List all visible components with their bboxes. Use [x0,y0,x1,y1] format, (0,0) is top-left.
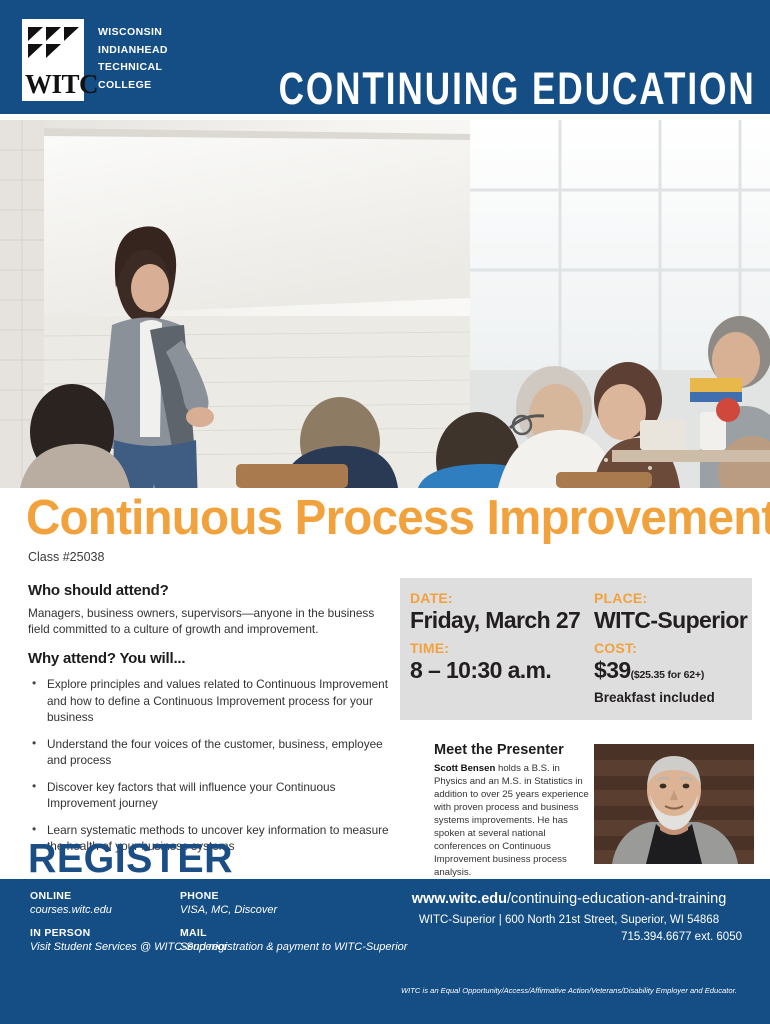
institution-line-4: COLLEGE [98,77,168,95]
campus-address: WITC-Superior | 600 North 21st Street, S… [384,912,754,928]
register-phone-block: PHONE VISA, MC, Discover [180,890,277,918]
institution-line-2: INDIANHEAD [98,42,168,60]
mail-label: MAIL [180,927,407,939]
institution-name: WISCONSIN INDIANHEAD TECHNICAL COLLEGE [98,19,168,94]
class-number: Class #25038 [28,550,104,564]
why-heading: Why attend? You will... [28,650,400,667]
website-domain: www.witc.edu [412,891,507,907]
banner-title: CONTINUING EDUCATION [279,66,756,111]
place-value: WITC-Superior [594,606,762,634]
witc-logo: WITC WISCONSIN INDIANHEAD TECHNICAL COLL… [22,19,168,101]
why-attend-section: Why attend? You will... Explore principl… [28,650,400,865]
presenter-portrait-illustration [594,744,754,864]
presenter-name: Scott Bensen [434,763,495,774]
list-item: Understand the four voices of the custom… [28,736,400,769]
flyer-page: WITC WISCONSIN INDIANHEAD TECHNICAL COLL… [0,0,770,1024]
date-label: DATE: [410,590,594,606]
cost-label: COST: [594,640,762,656]
contact-phone-number: 715.394.6677 ext. 6050 [384,931,742,943]
register-heading: REGISTER [28,838,233,879]
hero-photo [0,120,770,488]
hero-illustration [0,120,770,488]
website-path: /continuing-education-and-training [507,891,726,907]
place-cell: PLACE: WITC-Superior [594,586,762,634]
who-body: Managers, business owners, supervisors—a… [28,605,388,637]
triangle-icon [46,44,61,58]
phone-value: VISA, MC, Discover [180,903,277,918]
cost-cell: COST: $39($25.35 for 62+) Breakfast incl… [594,636,762,706]
cost-value-row: $39($25.35 for 62+) [594,656,762,689]
logo-triangles-bottom-row [28,44,61,58]
cost-extra: Breakfast included [594,689,762,706]
cost-value: $39 [594,657,631,683]
why-bullet-list: Explore principles and values related to… [28,676,400,855]
eeo-statement: WITC is an Equal Opportunity/Access/Affi… [384,985,754,996]
time-cell: TIME: 8 – 10:30 a.m. [410,636,594,706]
list-item: Explore principles and values related to… [28,676,400,726]
logo-mark: WITC [22,19,84,101]
who-should-attend-section: Who should attend? Managers, business ow… [28,582,388,637]
online-value[interactable]: courses.witc.edu [30,903,112,918]
register-mail-block: MAIL Send registration & payment to WITC… [180,927,407,955]
who-heading: Who should attend? [28,582,388,599]
institution-line-3: TECHNICAL [98,59,168,77]
page-footer: ONLINE courses.witc.edu IN PERSON Visit … [0,879,770,1024]
presenter-bio: Scott Bensen holds a B.S. in Physics and… [434,762,589,879]
triangle-icon [28,27,43,41]
presenter-bio-text: holds a B.S. in Physics and an M.S. in S… [434,763,589,878]
course-title: Continuous Process Improvement [26,494,770,543]
institution-line-1: WISCONSIN [98,24,168,42]
time-value: 8 – 10:30 a.m. [410,656,594,684]
website-url[interactable]: www.witc.edu/continuing-education-and-tr… [384,889,754,909]
cost-note: ($25.35 for 62+) [631,669,705,681]
triangle-icon [28,44,43,58]
triangle-icon [64,27,79,41]
presenter-section: Meet the Presenter Scott Bensen holds a … [434,742,754,872]
register-online-block: ONLINE courses.witc.edu [30,890,112,918]
logo-triangles-top-row [28,27,79,41]
header-divider [0,114,770,117]
online-label: ONLINE [30,890,112,902]
place-label: PLACE: [594,590,762,606]
course-details-grid: DATE: Friday, March 27 PLACE: WITC-Super… [410,586,752,706]
mail-value: Send registration & payment to WITC-Supe… [180,940,407,955]
date-cell: DATE: Friday, March 27 [410,586,594,634]
date-value: Friday, March 27 [410,606,594,634]
course-details-box: DATE: Friday, March 27 PLACE: WITC-Super… [400,578,752,720]
time-label: TIME: [410,640,594,656]
presenter-photo [594,744,754,864]
triangle-icon [46,27,61,41]
logo-wordmark: WITC [25,71,98,98]
phone-label: PHONE [180,890,277,902]
page-header: WITC WISCONSIN INDIANHEAD TECHNICAL COLL… [0,0,770,117]
list-item: Discover key factors that will influence… [28,779,400,812]
